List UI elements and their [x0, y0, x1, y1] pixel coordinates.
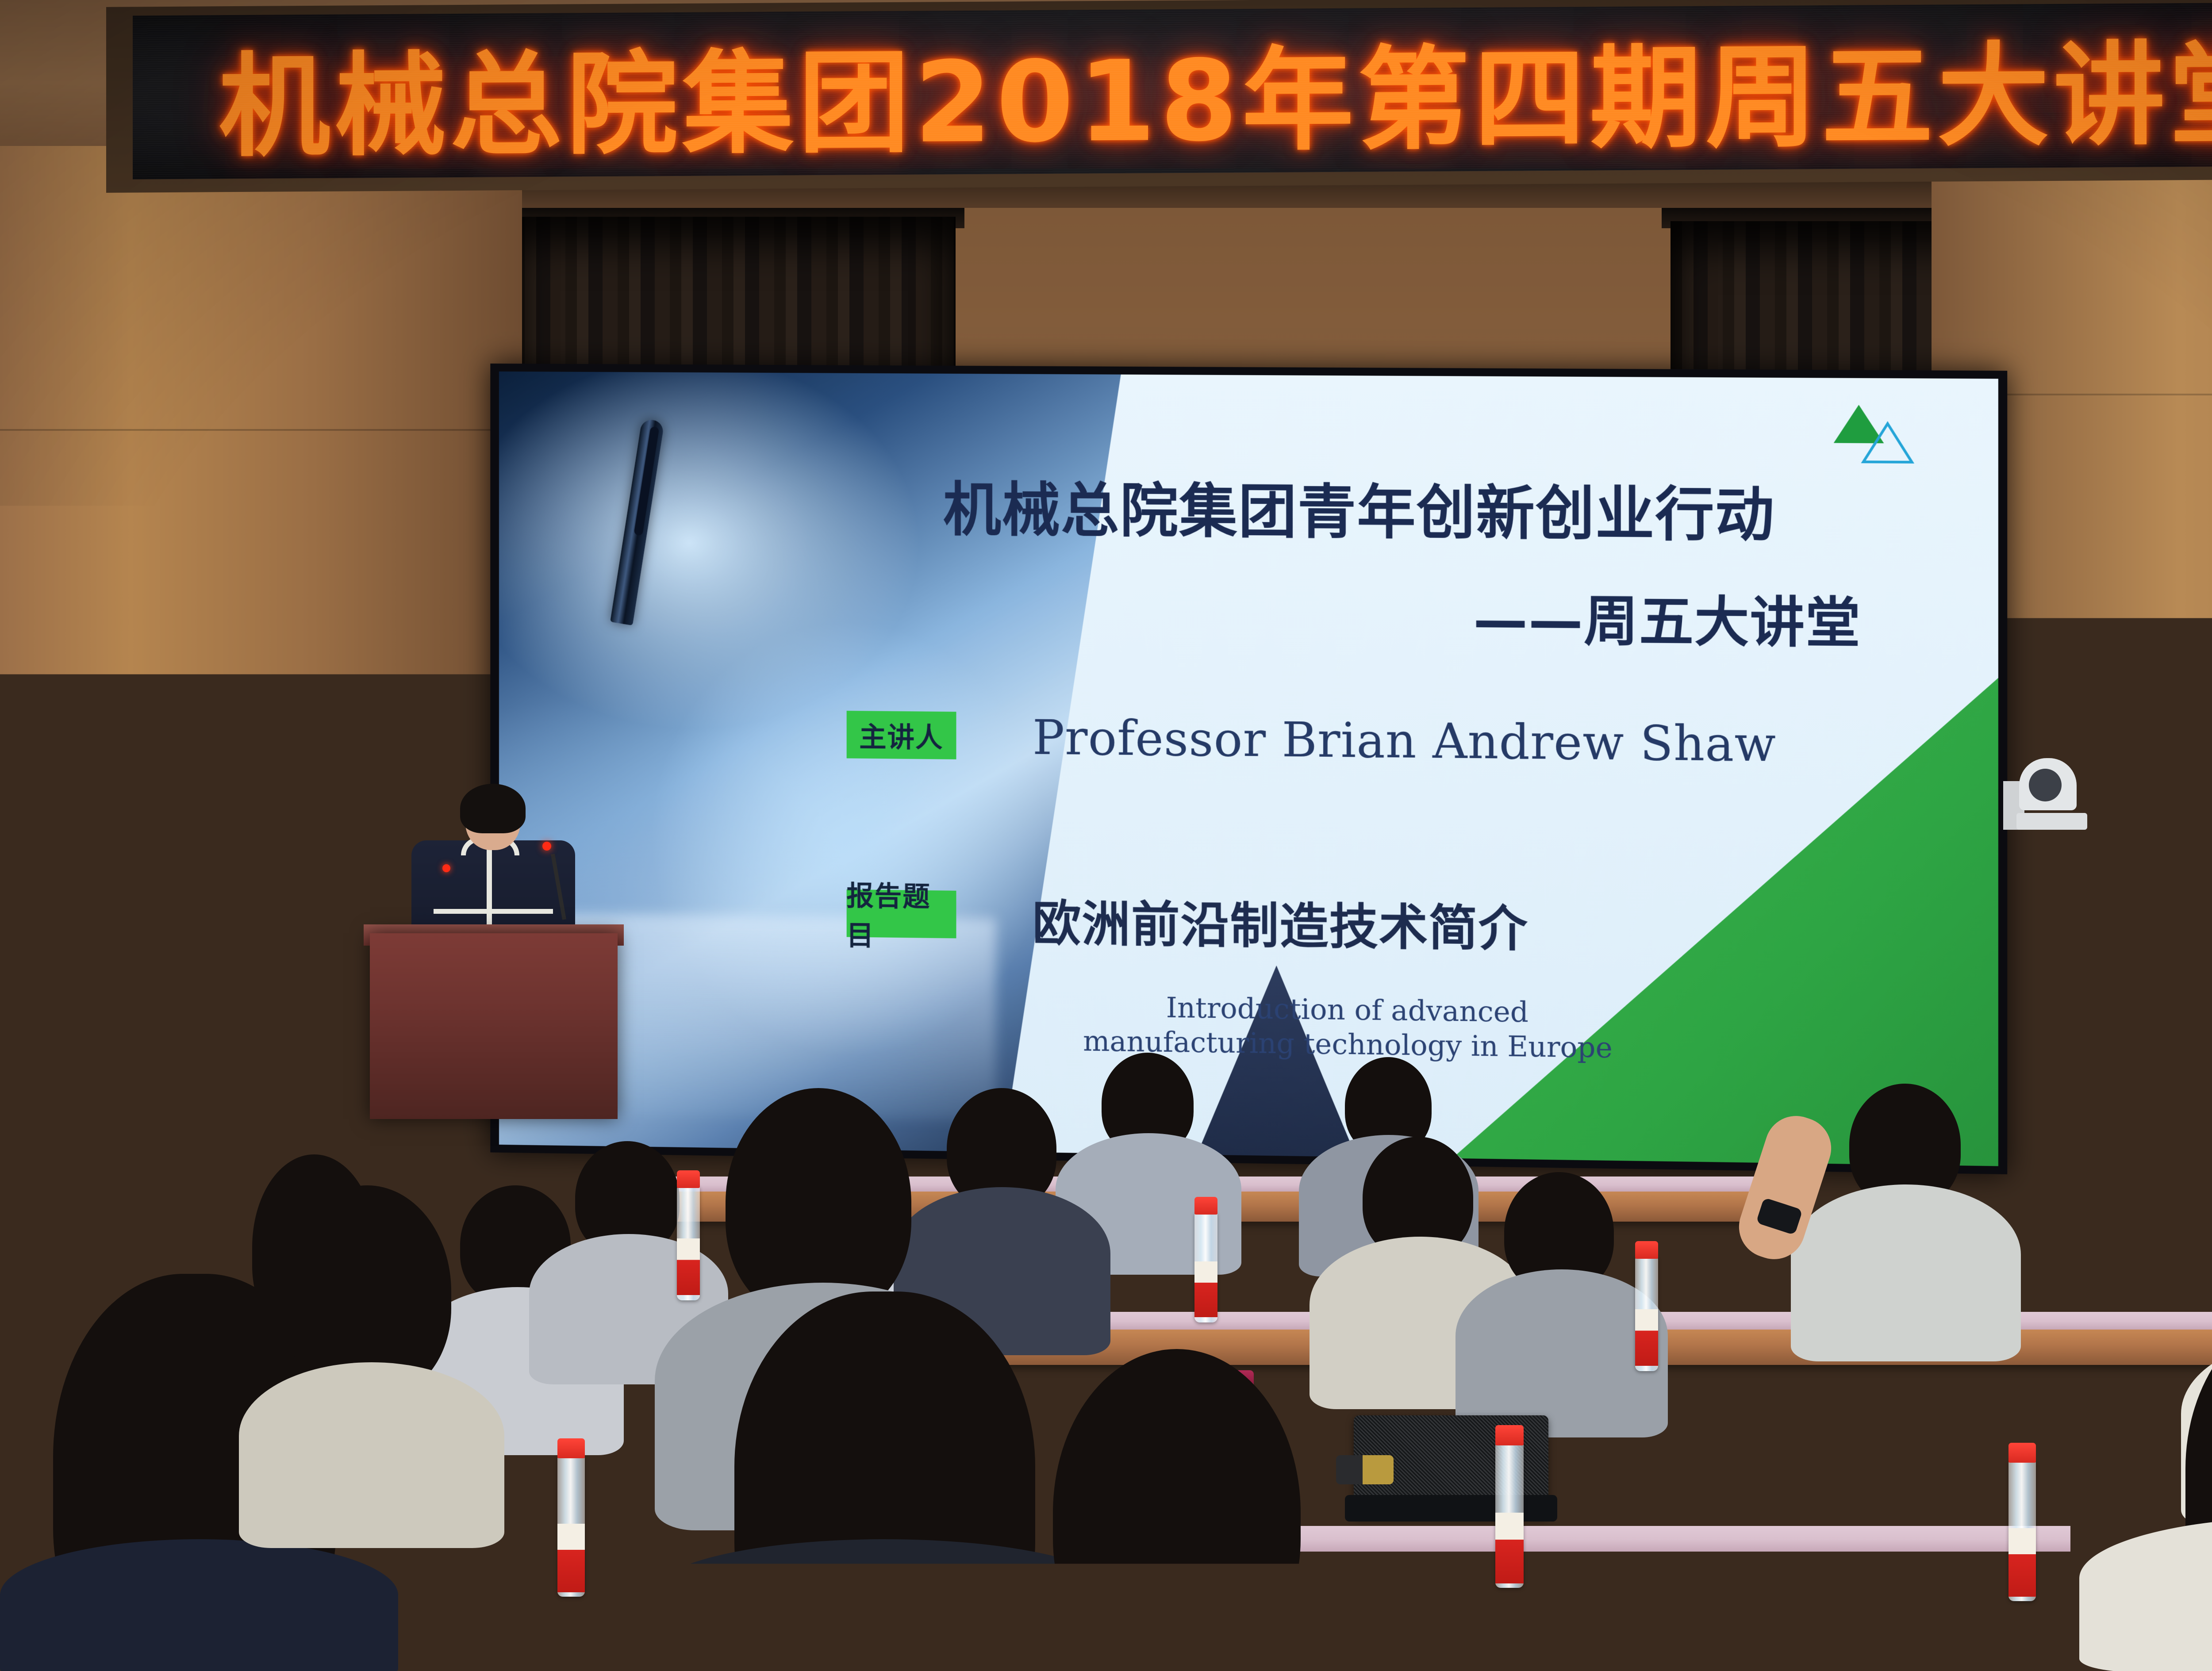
projection-screen-frame: 机械总院集团青年创新创业行动 ——周五大讲堂 主讲人 Professor Bri… — [490, 364, 2007, 1174]
wall-panel-left — [0, 146, 522, 1296]
slide-topic-tag: 报告题目 — [846, 889, 956, 938]
slide-topic-english: Introduction of advanced manufacturing t… — [1002, 989, 1694, 1066]
audience-body-foreground — [0, 1539, 398, 1671]
audience-body — [1791, 1184, 2021, 1361]
slide-speaker-tag: 主讲人 — [846, 711, 956, 759]
lecture-hall-photo: 机械总院集团2018年第四期周五大讲堂 机械总院集团青年创新创业行动 ——周五大… — [0, 0, 2212, 1671]
chair-back — [1876, 1429, 2066, 1528]
bottle-label — [2008, 1528, 2036, 1597]
podium — [370, 933, 618, 1119]
bottle-label — [1495, 1513, 1524, 1583]
audience-body-foreground — [239, 1362, 504, 1548]
ptz-camera-icon — [2003, 755, 2087, 830]
slide-topic-chinese: 欧洲前沿制造技术简介 — [1033, 884, 1528, 960]
lapel-indicator-light — [442, 864, 450, 872]
slide-speaker-name: Professor Brian Andrew Shaw — [1033, 710, 1776, 773]
triangle-outline-icon — [1861, 421, 1915, 464]
audience-body-foreground — [1504, 1552, 1902, 1671]
projection-screen: 机械总院集团青年创新创业行动 ——周五大讲堂 主讲人 Professor Bri… — [499, 372, 1998, 1166]
slide-logo — [1834, 405, 1919, 472]
audience-body-foreground — [964, 1575, 1363, 1671]
bottle-label — [1194, 1261, 1217, 1317]
bottle-cap — [2008, 1443, 2036, 1463]
bottle-cap — [1495, 1425, 1524, 1445]
slide-title: 机械总院集团青年创新创业行动 — [943, 479, 1907, 548]
led-banner-text: 机械总院集团2018年第四期周五大讲堂 — [133, 2, 2212, 180]
bottle-cap — [557, 1438, 585, 1458]
bottle-label — [557, 1524, 585, 1592]
presenter-jacket-trim-horizontal — [434, 909, 553, 914]
microphone-indicator-light — [542, 842, 551, 851]
bottle-cap — [677, 1170, 700, 1188]
presenter-hair — [460, 784, 526, 833]
ptz-camera-base — [2016, 813, 2087, 830]
slide-subtitle: ——周五大讲堂 — [943, 587, 1907, 653]
keys-icon — [1336, 1455, 1394, 1484]
bottle-cap — [1635, 1241, 1658, 1259]
led-banner-panel: 机械总院集团2018年第四期周五大讲堂 — [133, 2, 2212, 180]
ptz-camera-lens — [2029, 769, 2062, 801]
bottle-label — [677, 1238, 700, 1295]
bottle-cap — [1194, 1197, 1217, 1215]
chair-frame — [1345, 1495, 1557, 1522]
